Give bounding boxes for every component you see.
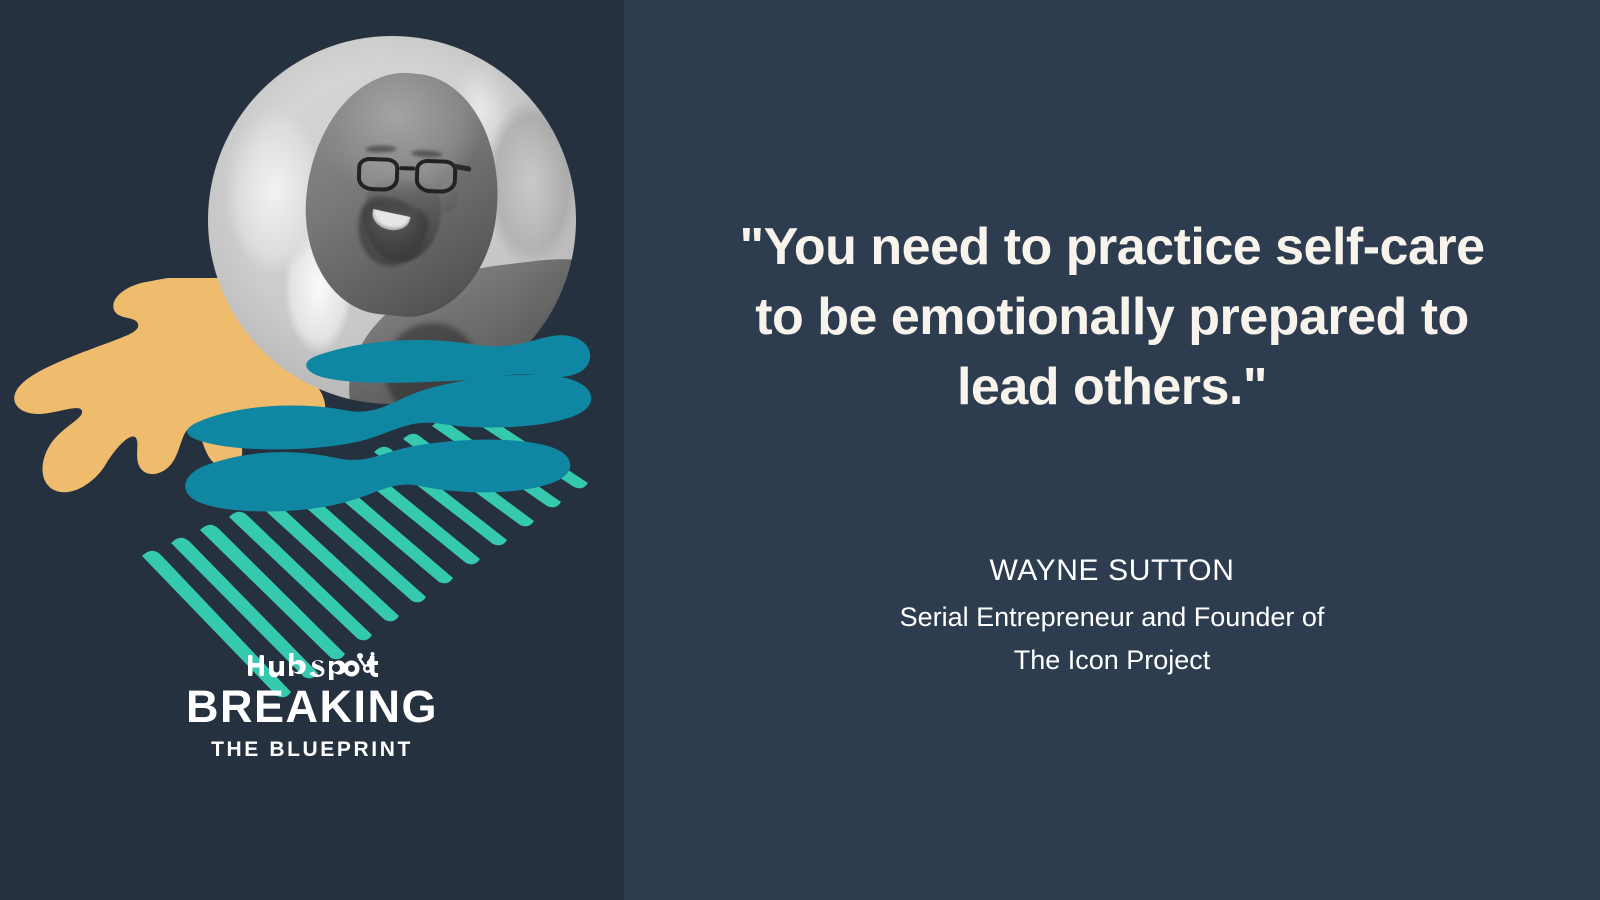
quote-line-2: to be emotionally prepared to bbox=[684, 282, 1540, 352]
quote-line-3: lead others." bbox=[684, 352, 1540, 422]
right-panel: "You need to practice self-care to be em… bbox=[624, 0, 1600, 900]
teal-wavy-brush-strokes-icon bbox=[185, 335, 591, 511]
speaker-name: WAYNE SUTTON bbox=[684, 551, 1540, 591]
quote-line-1: "You need to practice self-care bbox=[684, 212, 1540, 282]
series-title-breaking: BREAKING bbox=[0, 684, 624, 729]
left-panel: BREAKING THE BLUEPRINT bbox=[0, 0, 624, 900]
series-title-blueprint: THE BLUEPRINT bbox=[0, 739, 624, 760]
speaker-title: Serial Entrepreneur and Founder of The I… bbox=[684, 596, 1540, 682]
speaker-title-line-2: The Icon Project bbox=[684, 639, 1540, 682]
speaker-title-line-1: Serial Entrepreneur and Founder of bbox=[684, 596, 1540, 639]
quote-slide: BREAKING THE BLUEPRINT "You need to prac… bbox=[0, 0, 1600, 900]
teal-decoration-group bbox=[0, 300, 624, 700]
quote-block: "You need to practice self-care to be em… bbox=[684, 212, 1540, 422]
hubspot-logo-icon bbox=[246, 648, 378, 680]
attribution-block: WAYNE SUTTON Serial Entrepreneur and Fou… bbox=[684, 551, 1540, 682]
brand-logo-lockup: BREAKING THE BLUEPRINT bbox=[0, 648, 624, 760]
